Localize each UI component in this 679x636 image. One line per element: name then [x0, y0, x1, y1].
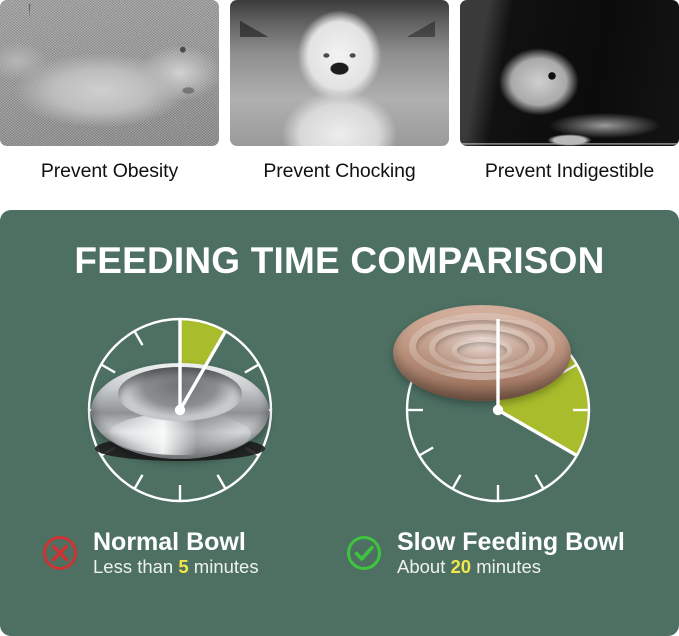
gauge-hands-slow	[393, 305, 603, 515]
legend-sub-suffix-slow: minutes	[471, 556, 541, 577]
infographic-root: Prevent Obesity Prevent Chocking Prevent…	[0, 0, 679, 636]
legend-sub-normal-bowl: Less than 5 minutes	[93, 556, 259, 578]
legend-sub-prefix-slow: About	[397, 556, 451, 577]
comparison-panel: FEEDING TIME COMPARISON	[0, 210, 679, 636]
circle-x-icon	[40, 533, 80, 573]
gauge-hub-slow	[493, 405, 503, 415]
comparison-legend: Normal Bowl Less than 5 minutes Slow Fee…	[0, 528, 679, 608]
gauge-hand-end-normal	[180, 331, 226, 410]
cat-photo-choking	[230, 0, 449, 146]
benefit-card-obesity: Prevent Obesity	[0, 0, 219, 196]
gauge-normal-bowl	[75, 305, 285, 515]
legend-text-normal-bowl: Normal Bowl Less than 5 minutes	[93, 528, 259, 578]
cat-photo-indigestible	[460, 0, 679, 146]
benefit-card-choking: Prevent Chocking	[230, 0, 449, 196]
legend-sub-prefix-normal: Less than	[93, 556, 178, 577]
benefit-caption-obesity: Prevent Obesity	[41, 160, 178, 183]
gauge-hub-normal	[175, 405, 185, 415]
circle-check-icon	[344, 533, 384, 573]
legend-sub-suffix-normal: minutes	[189, 556, 259, 577]
benefit-caption-choking: Prevent Chocking	[263, 160, 415, 183]
legend-sub-value-normal: 5	[178, 556, 188, 577]
gauge-hand-end-slow	[498, 410, 577, 456]
legend-item-slow-feeding-bowl: Slow Feeding Bowl About 20 minutes	[344, 528, 625, 578]
legend-sub-value-slow: 20	[451, 556, 472, 577]
legend-sub-slow-feeding-bowl: About 20 minutes	[397, 556, 625, 578]
legend-text-slow-feeding-bowl: Slow Feeding Bowl About 20 minutes	[397, 528, 625, 578]
benefit-card-indigestible: Prevent Indigestible	[460, 0, 679, 196]
legend-item-normal-bowl: Normal Bowl Less than 5 minutes	[40, 528, 259, 578]
gauge-slow-feeding-bowl	[393, 305, 603, 515]
benefit-caption-indigestible: Prevent Indigestible	[485, 160, 654, 183]
benefit-photo-strip: Prevent Obesity Prevent Chocking Prevent…	[0, 0, 679, 196]
panel-title: FEEDING TIME COMPARISON	[0, 240, 679, 282]
legend-title-normal-bowl: Normal Bowl	[93, 528, 259, 556]
cat-photo-obesity	[0, 0, 219, 146]
gauge-hands-normal	[75, 305, 285, 515]
legend-title-slow-feeding-bowl: Slow Feeding Bowl	[397, 528, 625, 556]
